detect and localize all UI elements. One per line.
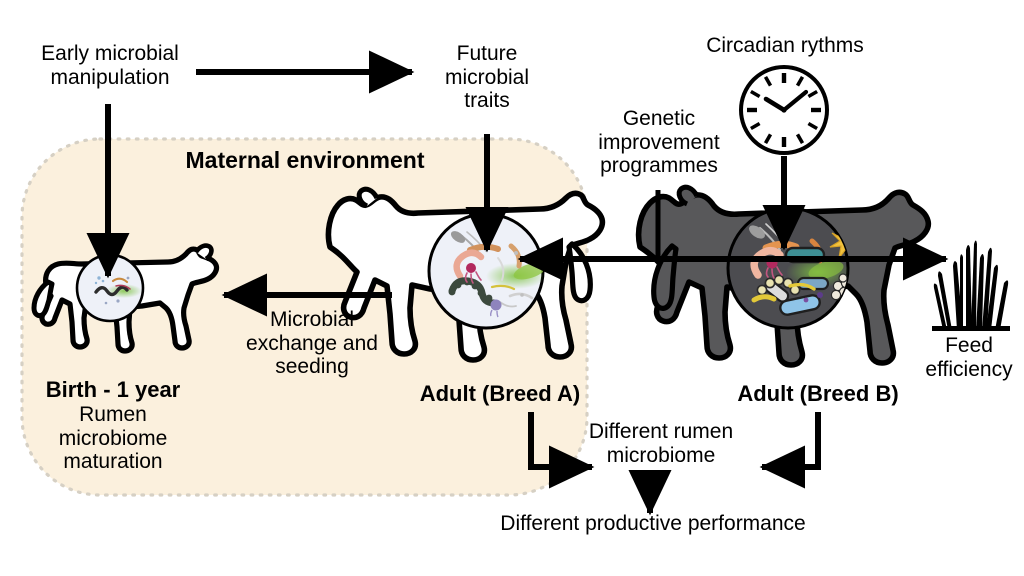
figure-canvas: Early microbial manipulation Future micr… — [0, 0, 1024, 576]
label-maternal-environment: Maternal environment — [160, 148, 450, 174]
label-genetic-improvement-programmes: Genetic improvement programmes — [584, 107, 734, 178]
label-microbial-exchange-seeding: Microbial exchange and seeding — [232, 308, 392, 379]
clock-icon — [741, 67, 827, 153]
label-feed-efficiency: Feed efficiency — [914, 334, 1024, 381]
label-circadian-rythms: Circadian rythms — [692, 34, 878, 58]
label-birth-one-year: Birth - 1 year — [18, 378, 208, 403]
arrow-breed-b-to-microbiome — [762, 412, 818, 467]
label-different-rumen-microbiome: Different rumen microbiome — [572, 420, 750, 467]
label-adult-breed-a: Adult (Breed A) — [390, 382, 610, 407]
label-rumen-microbiome-maturation: Rumen microbiome maturation — [30, 403, 196, 474]
label-future-microbial-traits: Future microbial traits — [424, 42, 550, 113]
label-early-microbial-manipulation: Early microbial manipulation — [20, 42, 200, 89]
label-adult-breed-b: Adult (Breed B) — [700, 382, 936, 407]
grass-icon — [932, 241, 1010, 332]
label-different-productive-performance: Different productive performance — [458, 512, 848, 536]
